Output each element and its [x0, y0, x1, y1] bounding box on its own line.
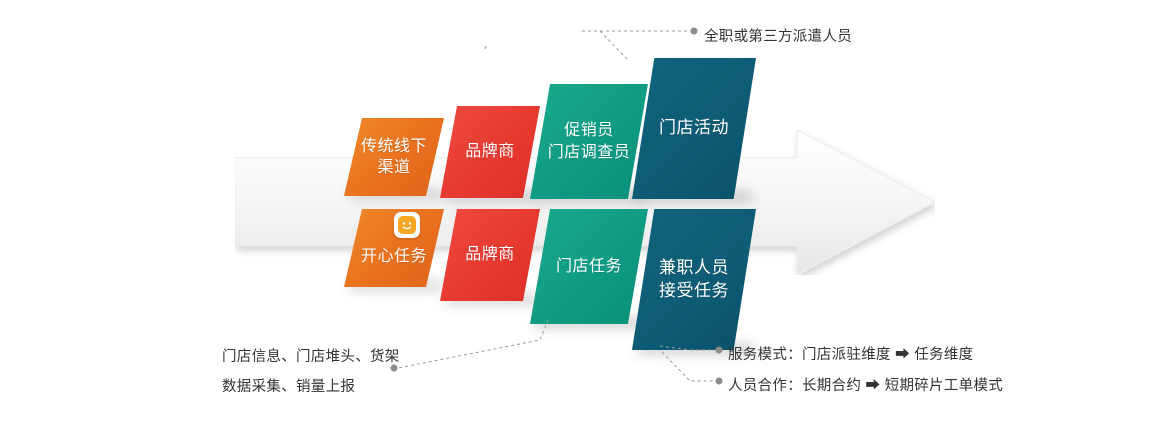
node-label: 兼职人员 接受任务: [655, 257, 733, 302]
node-label: 开心任务: [357, 246, 431, 267]
node-label: 传统线下 渠道: [357, 136, 431, 178]
diagram-canvas: 传统线下 渠道 品牌商 促销员 门店调查员 门店活动 开心任务 品牌商 门店任务…: [0, 0, 1150, 430]
node-label: 门店任务: [552, 256, 626, 277]
annotation-bottom-right-line2: 人员合作：长期合约 ➡ 短期碎片工单模式: [728, 374, 1003, 395]
node-brand-owner-top[interactable]: 品牌商: [440, 106, 540, 198]
happy-task-app-icon[interactable]: [394, 212, 420, 238]
annotation-bottom-right-line1: 服务模式：门店派驻维度 ➡ 任务维度: [728, 343, 973, 364]
annotation-bottom-left-line1: 门店信息、门店堆头、货架: [222, 345, 400, 366]
node-label: 品牌商: [461, 141, 519, 162]
annotation-bottom-left-line2: 数据采集、销量上报: [222, 375, 355, 396]
node-label: 促销员 门店调查员: [544, 120, 635, 162]
annotation-top-right: 全职或第三方派遣人员: [704, 25, 852, 46]
decorative-speck: [484, 46, 487, 49]
node-label: 门店活动: [655, 117, 733, 139]
node-promoter-store-surveyor[interactable]: 促销员 门店调查员: [530, 84, 648, 199]
node-brand-owner-bottom[interactable]: 品牌商: [440, 209, 540, 301]
node-store-task[interactable]: 门店任务: [530, 209, 648, 324]
node-label: 品牌商: [461, 244, 519, 265]
